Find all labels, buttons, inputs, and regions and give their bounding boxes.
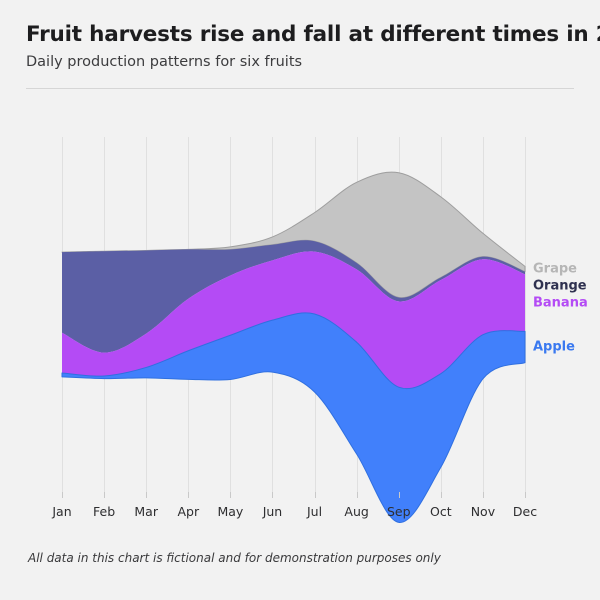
x-tick-label-may: May (217, 504, 243, 519)
x-tick-label-sep: Sep (387, 504, 411, 519)
legend-label-apple[interactable]: Apple (533, 339, 575, 354)
legend-group: GrapeOrangeBananaApple (533, 262, 588, 355)
x-tick-label-dec: Dec (513, 504, 537, 519)
x-axis-ticks-group (63, 492, 526, 498)
x-tick-label-aug: Aug (344, 504, 368, 519)
chart-footnote: All data in this chart is fictional and … (28, 551, 441, 565)
x-tick-label-mar: Mar (134, 504, 158, 519)
x-tick-label-oct: Oct (430, 504, 452, 519)
stream-chart-plot: JanFebMarAprMayJunJulAugSepOctNovDec Gra… (0, 0, 600, 600)
x-tick-label-apr: Apr (177, 504, 199, 519)
x-tick-label-jan: Jan (51, 504, 71, 519)
x-tick-label-jul: Jul (306, 504, 322, 519)
x-tick-label-jun: Jun (262, 504, 283, 519)
x-axis-labels-group: JanFebMarAprMayJunJulAugSepOctNovDec (51, 504, 537, 519)
streamgraph-svg: JanFebMarAprMayJunJulAugSepOctNovDec Gra… (0, 0, 600, 600)
chart-card: Fruit harvests rise and fall at differen… (0, 0, 600, 600)
legend-label-banana[interactable]: Banana (533, 296, 588, 311)
x-tick-label-nov: Nov (471, 504, 496, 519)
legend-label-orange[interactable]: Orange (533, 279, 587, 294)
series-bands-group (62, 172, 525, 522)
x-tick-label-feb: Feb (93, 504, 115, 519)
legend-label-grape[interactable]: Grape (533, 262, 577, 277)
